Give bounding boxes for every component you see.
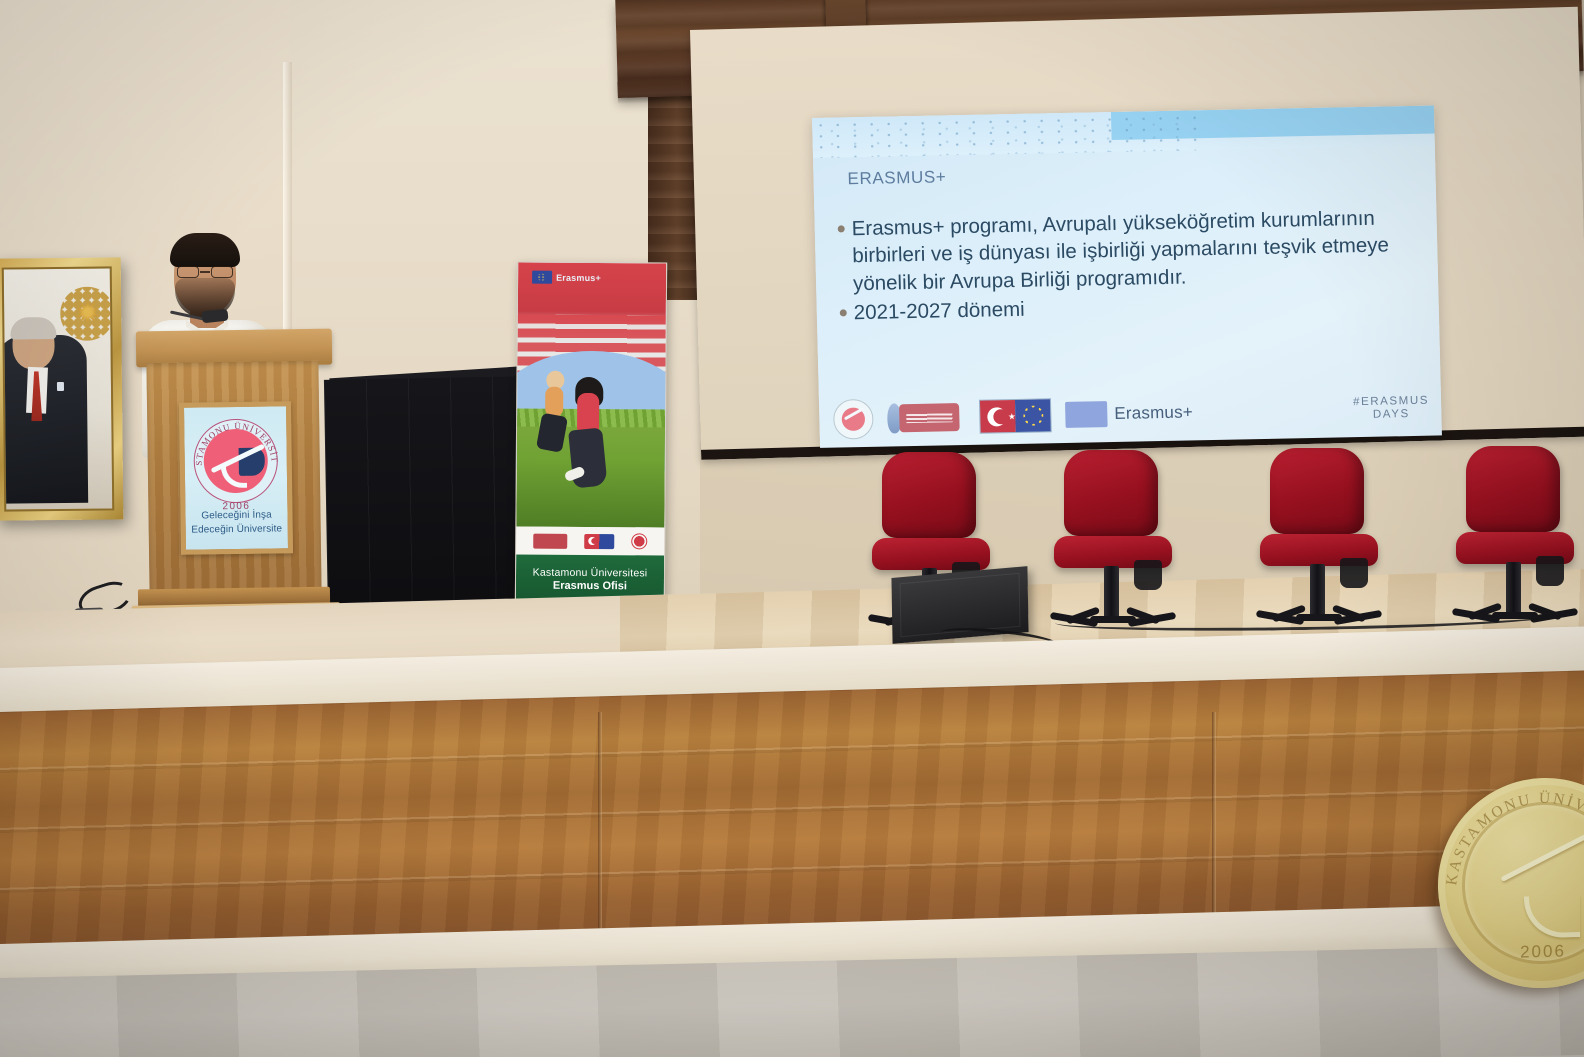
slide-dot-pattern: [812, 112, 1198, 158]
yok-logo-icon: [887, 401, 966, 435]
presentation-slide: ERASMUS+ Erasmus+ programı, Avrupalı yük…: [812, 106, 1442, 448]
rollup-banner: Erasmus+ Kastamonu Üniversitesi Erasmus …: [515, 261, 667, 606]
lectern: KASTAMONU ÜNİVERSİTESİ 2006 Geleceğini İ…: [138, 330, 330, 628]
svg-text:KASTAMONU ÜNİVERSİTESİ: KASTAMONU ÜNİVERSİTESİ: [1443, 787, 1584, 886]
black-backdrop-panel: [324, 376, 540, 624]
slide-bullet-1: Erasmus+ programı, Avrupalı yükseköğreti…: [836, 204, 1418, 297]
erasmus-plus-wordmark: Erasmus+: [1114, 402, 1193, 424]
lectern-tagline: Geleceğini İnşa Edeceğin Üniversite: [185, 508, 287, 537]
banner-erasmus-logo-icon: Erasmus+: [532, 271, 601, 284]
lectern-tagline-line-1: Geleceğini İnşa: [185, 508, 287, 523]
lectern-emblem-arc-text: KASTAMONU ÜNİVERSİTESİ: [194, 419, 279, 466]
banner-turkey-flag-icon: [584, 533, 614, 548]
banner-logo-1-icon: [533, 533, 567, 548]
university-medallion: KASTAMONU ÜNİVERSİTESİ 2006: [1438, 775, 1584, 990]
erasmus-plus-logo-icon: Erasmus+: [1065, 399, 1193, 428]
conference-hall-photo: ERASMUS+ Erasmus+ programı, Avrupalı yük…: [0, 0, 1584, 1057]
banner-logo-3-icon: [632, 533, 648, 549]
banner-caption-line-2: Erasmus Ofisi: [553, 579, 627, 593]
erasmus-days-line-2: DAYS: [1353, 408, 1429, 422]
slide-bullet-list: Erasmus+ programı, Avrupalı yükseköğreti…: [836, 204, 1419, 329]
lectern-tagline-line-2: Edeceğin Üniversite: [186, 522, 288, 537]
panel-seam-1: [598, 712, 602, 952]
banner-erasmus-label: Erasmus+: [556, 272, 601, 282]
turkey-eu-flags-icon: [979, 398, 1052, 433]
framed-portrait: [0, 257, 123, 520]
slide-footer-logos: Erasmus+ #ERASMUS DAYS: [833, 385, 1430, 443]
erasmus-days-logo-icon: #ERASMUS DAYS: [1353, 395, 1430, 422]
svg-text:KASTAMONU ÜNİVERSİTESİ: KASTAMONU ÜNİVERSİTESİ: [194, 419, 279, 466]
banner-caption-line-1: Kastamonu Üniversitesi: [533, 566, 648, 580]
lectern-sign: KASTAMONU ÜNİVERSİTESİ 2006 Geleceğini İ…: [179, 401, 293, 555]
banner-logo-strip: [516, 526, 664, 555]
medallion-arc-text: KASTAMONU ÜNİVERSİTESİ: [1443, 787, 1584, 886]
slide-heading: ERASMUS+: [847, 167, 946, 189]
university-emblem-icon: KASTAMONU ÜNİVERSİTESİ: [193, 418, 278, 503]
glasses-icon: [177, 266, 233, 279]
lapel-pin-icon: [57, 382, 64, 391]
kastamonu-universitesi-logo-icon: [833, 399, 874, 440]
erasmus-days-line-1: #ERASMUS: [1353, 395, 1429, 409]
